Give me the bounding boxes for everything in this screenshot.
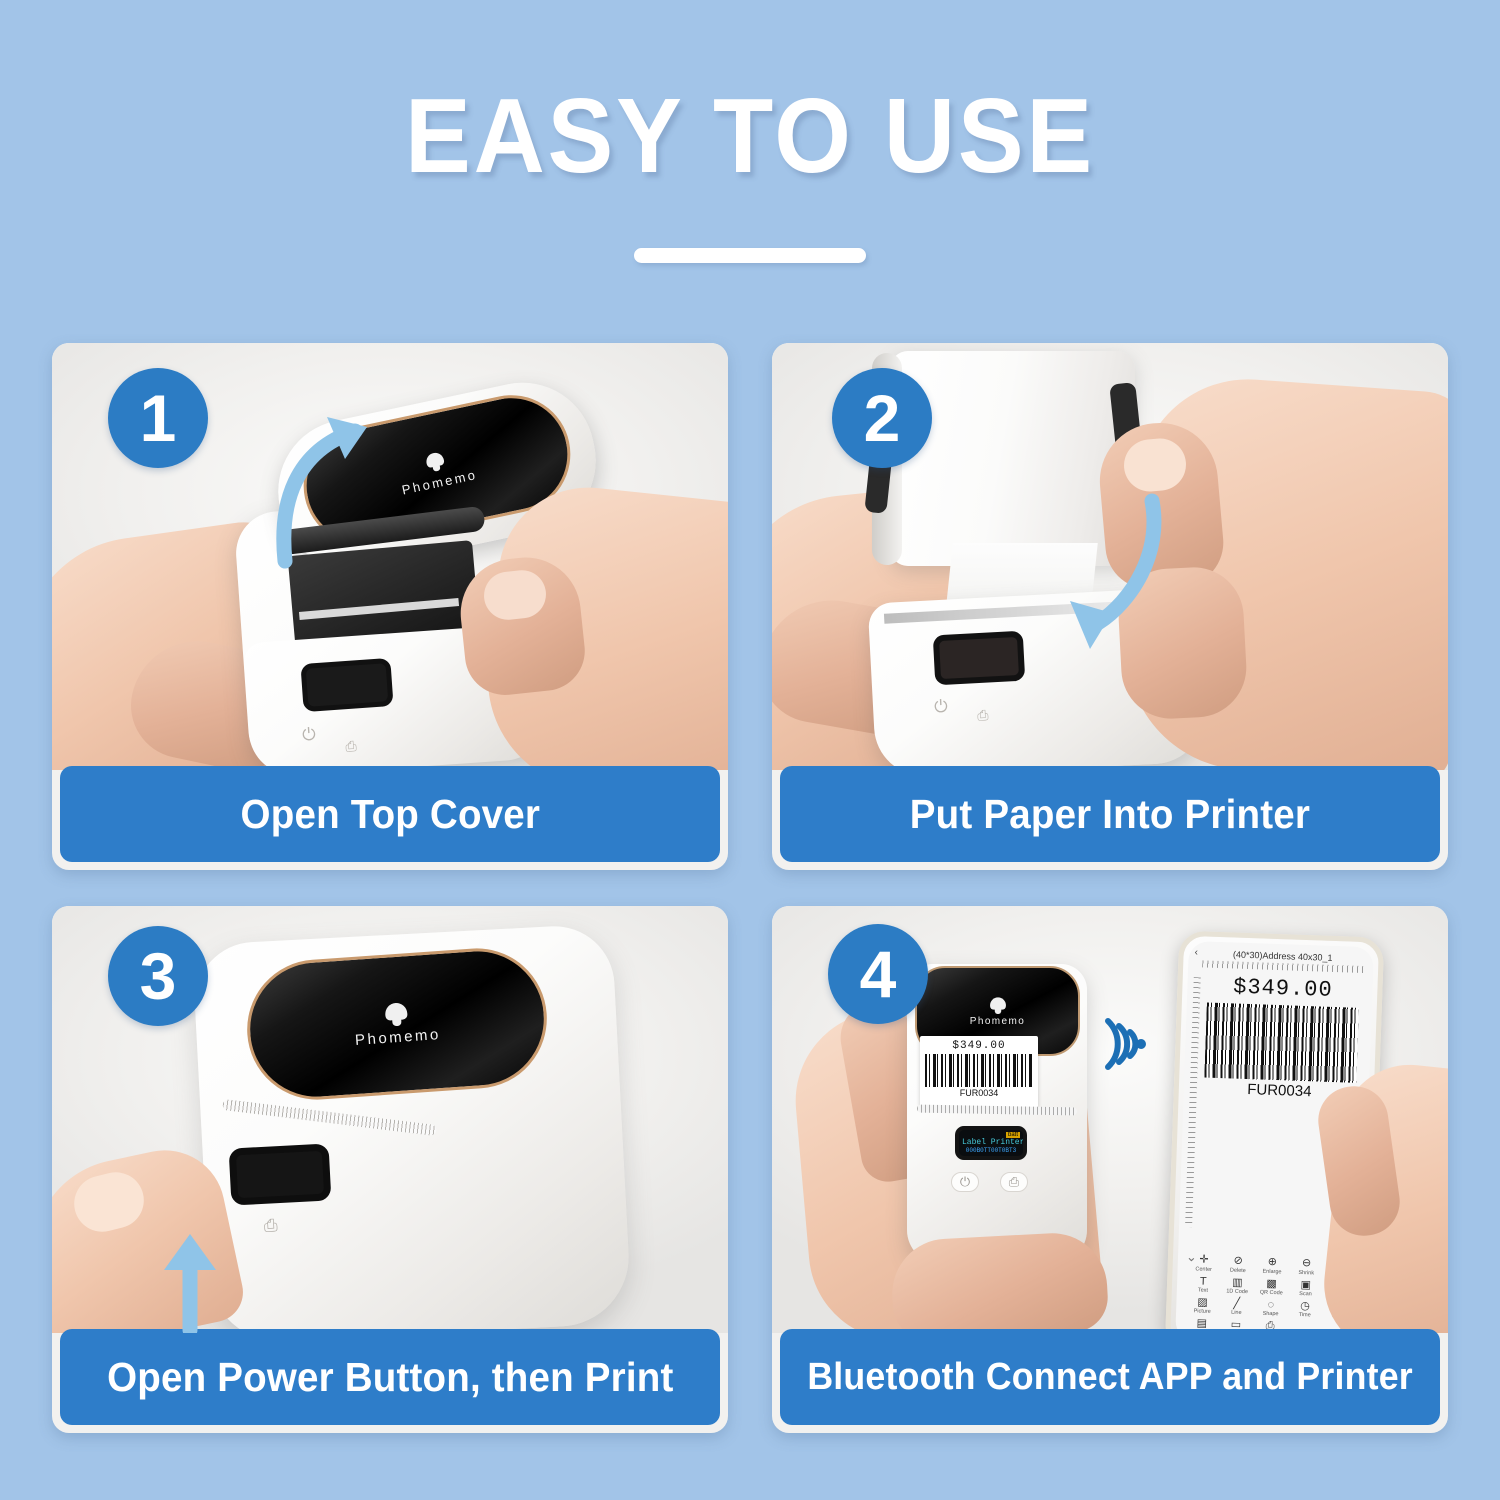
canvas-ruler-vertical [1185, 977, 1201, 1227]
step-card-3[interactable]: Phomemo ⎙ 3 Open Power Button, then Prin… [52, 906, 728, 1433]
line-icon: ╱ [1220, 1297, 1253, 1310]
shrink-icon: ⊖ [1290, 1257, 1323, 1270]
tool-shape[interactable]: ◌Shape [1254, 1298, 1287, 1317]
mushroom-logo-icon [385, 1002, 408, 1020]
tool-scan[interactable]: ▣Scan [1289, 1278, 1322, 1297]
brand-label: Phomemo [354, 1025, 441, 1048]
tool-delete[interactable]: ⊘Delete [1222, 1255, 1255, 1274]
caption-text: Open Power Button, then Print [107, 1354, 673, 1401]
tool-text[interactable]: TText [1187, 1275, 1220, 1294]
barcode-icon: ▥ [1221, 1276, 1254, 1289]
curved-up-arrow-icon [227, 393, 397, 573]
page-header: EASY TO USE [0, 0, 1500, 263]
tool-line[interactable]: ╱Line [1220, 1297, 1253, 1316]
tool-time[interactable]: ◷Time [1289, 1299, 1322, 1318]
feed-button-icon[interactable]: ⎙ [339, 734, 362, 757]
curved-down-arrow-icon [1040, 483, 1190, 663]
caption-text: Open Top Cover [240, 791, 540, 838]
power-button-icon[interactable]: ⏻ [297, 723, 320, 746]
tool-enlarge[interactable]: ⊕Enlarge [1256, 1256, 1289, 1275]
step-card-1[interactable]: Phomemo ⏻ ⎙ 1 Open Top Cove [52, 343, 728, 870]
mushroom-logo-icon [425, 451, 445, 468]
text-icon: T [1187, 1275, 1220, 1288]
step-caption-1: Open Top Cover [60, 766, 720, 862]
scan-icon: ▣ [1289, 1278, 1322, 1291]
step-badge-4: 4 [828, 924, 928, 1024]
steps-grid: Phomemo ⏻ ⎙ 1 Open Top Cove [52, 343, 1448, 1443]
delete-icon: ⊘ [1222, 1255, 1255, 1268]
bluetooth-signal-icon [1097, 1016, 1153, 1072]
step-badge-2: 2 [832, 368, 932, 468]
label-price: $349.00 [925, 1040, 1033, 1052]
page-title: EASY TO USE [53, 82, 1448, 190]
straight-up-arrow-icon [148, 1226, 238, 1333]
brand-label: Phomemo [400, 466, 478, 497]
oled-serial: 000B0TT00T0BT3 [962, 1147, 1020, 1154]
title-underline-bar [634, 248, 866, 263]
step-number: 3 [140, 938, 177, 1014]
feed-button-icon[interactable]: ⎙ [257, 1215, 284, 1242]
printed-label: $349.00 FUR0034 [920, 1036, 1038, 1108]
caption-text: Bluetooth Connect APP and Printer [807, 1356, 1413, 1399]
printer-display-window [300, 658, 393, 712]
mushroom-logo-icon [990, 997, 1006, 1009]
printer-oled-display: batt Label Printer 000B0TT00T0BT3 [955, 1126, 1027, 1160]
printer-top-panel: Phomemo [242, 944, 551, 1105]
step-number: 2 [864, 380, 901, 456]
preview-price: $349.00 [1205, 974, 1361, 1004]
tool-picture[interactable]: ▨Picture [1186, 1296, 1219, 1315]
qrcode-icon: ▩ [1255, 1277, 1288, 1290]
feed-button-icon[interactable]: ⎙ [1000, 1172, 1028, 1192]
center-icon: ✛ [1188, 1253, 1221, 1266]
step-card-4[interactable]: Phomemo $349.00 FUR0034 batt Label Print… [772, 906, 1448, 1433]
step-badge-1: 1 [108, 368, 208, 468]
step-card-2[interactable]: ⏻ ⎙ 2 Put Paper Into Printer [772, 343, 1448, 870]
enlarge-icon: ⊕ [1256, 1256, 1289, 1269]
oled-title: Label Printer [962, 1138, 1020, 1147]
picture-icon: ▨ [1186, 1296, 1219, 1309]
left-fingers [890, 1230, 1110, 1333]
tool-center[interactable]: ✛Center [1187, 1253, 1220, 1272]
tool-1dcode[interactable]: ▥1D Code [1221, 1276, 1254, 1295]
shape-icon: ◌ [1255, 1298, 1288, 1311]
label-sku: FUR0034 [925, 1088, 1033, 1098]
tool-shrink[interactable]: ⊖Shrink [1290, 1257, 1323, 1276]
step-badge-3: 3 [108, 926, 208, 1026]
printer-display-window [229, 1143, 332, 1205]
step-number: 4 [860, 936, 897, 1012]
power-button-icon[interactable]: ⏻ [929, 696, 952, 719]
step-caption-2: Put Paper Into Printer [780, 766, 1440, 862]
power-button-icon[interactable]: ⏻ [951, 1172, 979, 1192]
label-preview[interactable]: $349.00 FUR0034 [1202, 974, 1361, 1102]
preview-barcode-icon [1204, 1003, 1359, 1083]
step-caption-3: Open Power Button, then Print [60, 1329, 720, 1425]
label-barcode-icon [925, 1054, 1033, 1087]
feed-button-icon[interactable]: ⎙ [971, 706, 994, 729]
printer-display-window [933, 631, 1025, 686]
caption-text: Put Paper Into Printer [910, 791, 1310, 838]
tool-qrcode[interactable]: ▩QR Code [1255, 1277, 1288, 1296]
step-caption-4: Bluetooth Connect APP and Printer [780, 1329, 1440, 1425]
time-icon: ◷ [1289, 1299, 1322, 1312]
brand-label: Phomemo [970, 1016, 1025, 1027]
step-number: 1 [140, 380, 177, 456]
